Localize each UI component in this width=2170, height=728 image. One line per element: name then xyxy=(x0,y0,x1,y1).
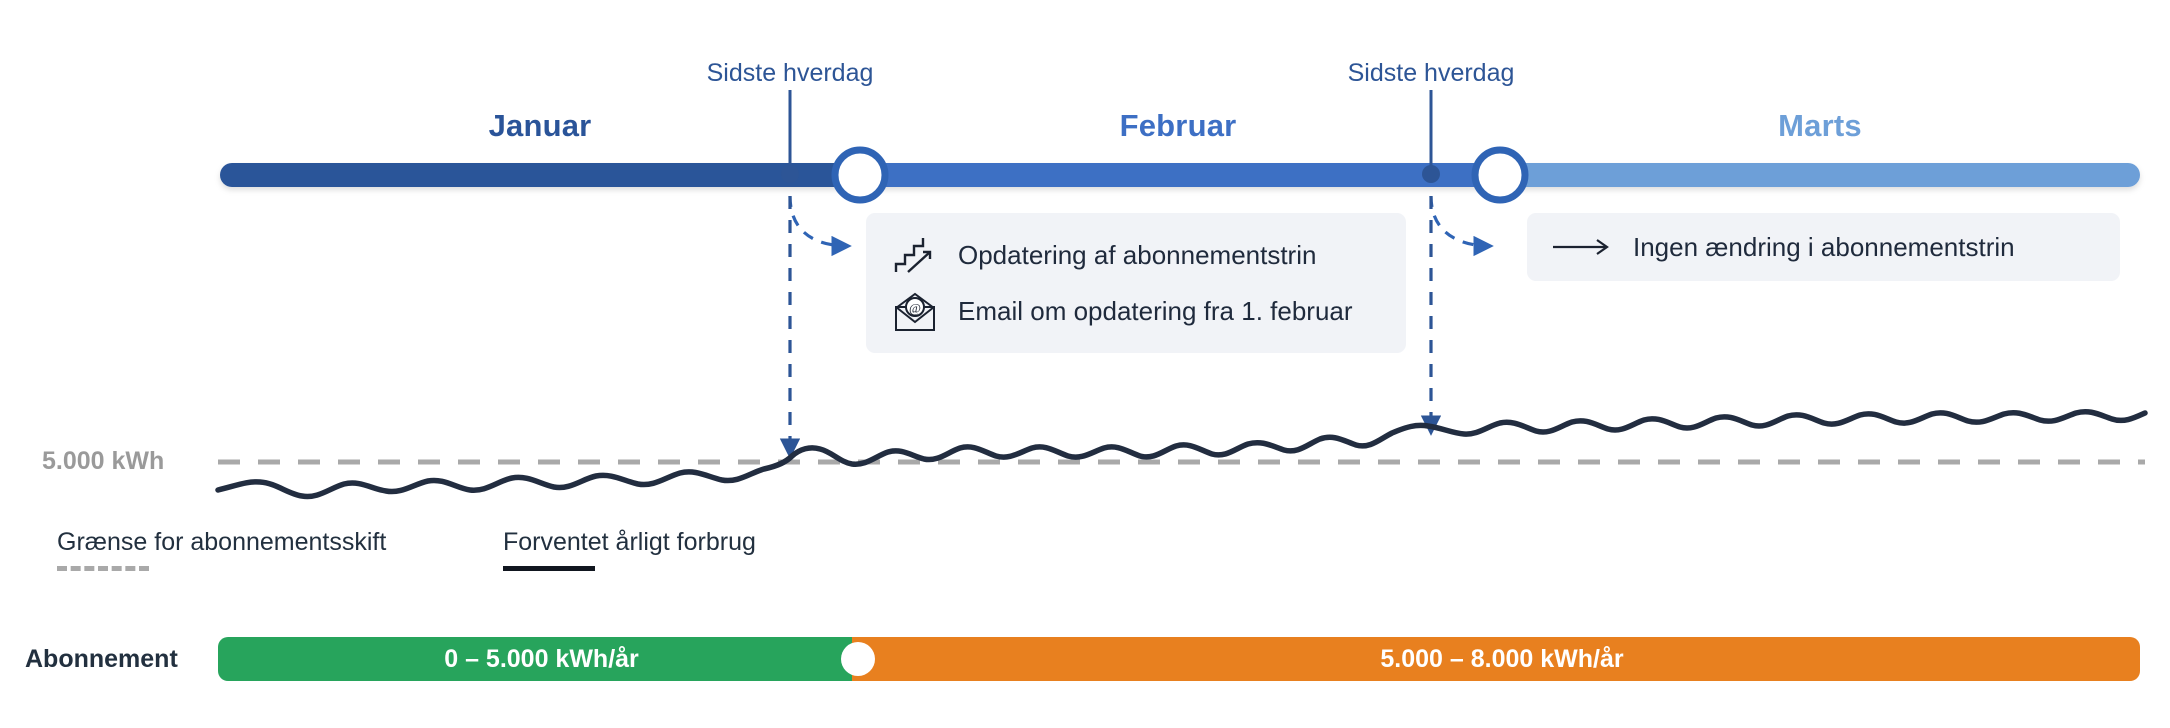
subscription-segment-text: 0 – 5.000 kWh/år xyxy=(444,645,639,674)
timeline-knob-2 xyxy=(1475,150,1525,200)
subscription-label: Abonnement xyxy=(25,645,178,674)
subscription-segment-tier1[interactable]: 0 – 5.000 kWh/år xyxy=(218,637,865,681)
month-label-januar: Januar xyxy=(489,108,592,144)
timeline-segment-marts xyxy=(1500,163,2140,187)
marker-label-2: Sidste hverdag xyxy=(1348,59,1515,88)
callout-text: Email om opdatering fra 1. februar xyxy=(958,296,1353,327)
threshold-axis-label: 5.000 kWh xyxy=(42,447,164,476)
subscription-segment-tier2[interactable]: 5.000 – 8.000 kWh/år xyxy=(852,637,2140,681)
month-label-februar: Februar xyxy=(1120,108,1237,144)
svg-text:@: @ xyxy=(909,301,921,316)
callout-row: Opdatering af abonnementstrin xyxy=(892,232,1380,278)
callout-text: Ingen ændring i abonnementstrin xyxy=(1633,232,2015,263)
callout-row: @ Email om opdatering fra 1. februar xyxy=(892,288,1380,334)
legend-swatch-dashed xyxy=(57,566,149,571)
timeline-knob-1 xyxy=(835,150,885,200)
marker-dot-1 xyxy=(781,165,799,183)
callout-text: Opdatering af abonnementstrin xyxy=(958,240,1316,271)
timeline-segment-januar xyxy=(220,163,860,187)
callout-february-update[interactable]: Opdatering af abonnementstrin @ Email om… xyxy=(866,213,1406,353)
legend-item-consumption: Forventet årligt forbrug xyxy=(503,528,756,571)
subscription-segment-text: 5.000 – 8.000 kWh/år xyxy=(1380,645,1623,674)
timeline-segment-februar xyxy=(860,163,1500,187)
connector-curve-1 xyxy=(790,196,848,246)
legend-item-threshold: Grænse for abonnementsskift xyxy=(57,528,386,571)
infographic-canvas: Januar Februar Marts Sidste hverdag Sids… xyxy=(0,0,2170,728)
connector-curve-2 xyxy=(1431,196,1490,246)
legend-swatch-solid xyxy=(503,566,595,571)
subscription-knob[interactable] xyxy=(841,642,875,676)
consumption-curve xyxy=(218,412,2145,497)
marker-dot-2 xyxy=(1422,165,1440,183)
stairs-up-arrow-icon xyxy=(892,232,938,278)
callout-row: Ingen ændring i abonnementstrin xyxy=(1551,224,2096,270)
legend-label: Forventet årligt forbrug xyxy=(503,528,756,557)
month-label-marts: Marts xyxy=(1778,108,1862,144)
straight-arrow-icon xyxy=(1551,224,1613,270)
email-open-icon: @ xyxy=(892,288,938,334)
callout-march-no-change[interactable]: Ingen ændring i abonnementstrin xyxy=(1527,213,2120,281)
legend-label: Grænse for abonnementsskift xyxy=(57,528,386,557)
marker-label-1: Sidste hverdag xyxy=(707,59,874,88)
